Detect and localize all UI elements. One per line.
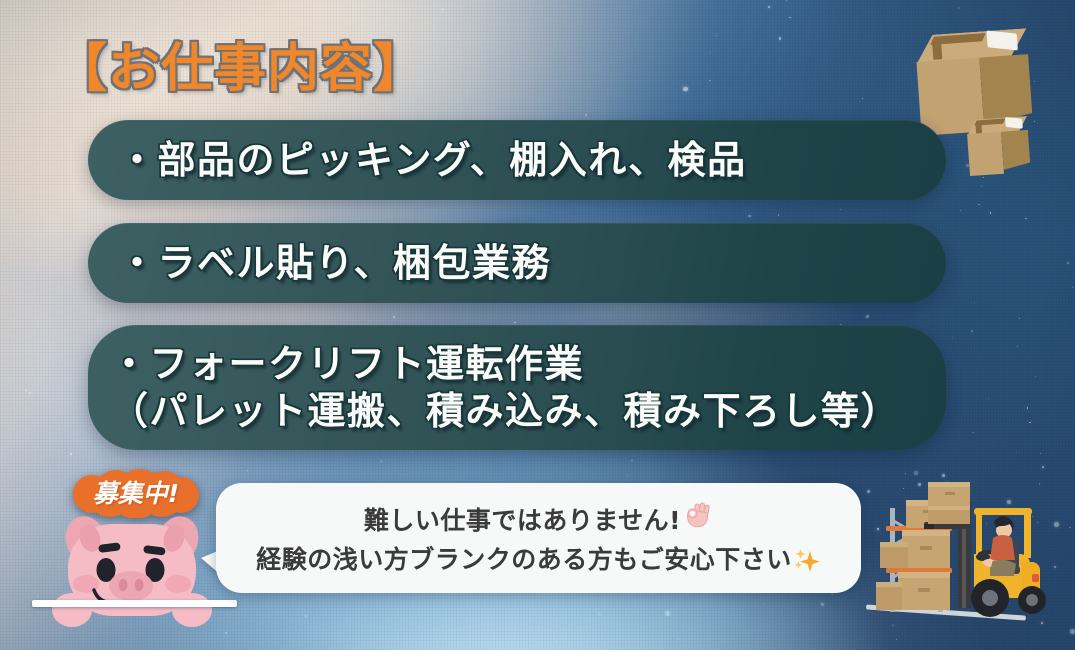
white-divider-line	[32, 600, 237, 607]
forklift-warehouse-illustration	[862, 462, 1075, 650]
duty-pill-3-line1: ・フォークリフト運転作業	[110, 342, 584, 386]
speech-bubble-line-2-row: 経験の浅い方ブランクのある方もご安心下さい	[256, 540, 821, 576]
speech-bubble-line-1: 難しい仕事ではありません!	[364, 501, 681, 537]
duty-pill-1: ・部品のピッキング、棚入れ、検品	[88, 120, 946, 200]
speech-bubble-line-1-row: 難しい仕事ではありません!	[364, 501, 713, 537]
speech-bubble: 難しい仕事ではありません! 経験の浅い方ブランクのあ	[216, 483, 861, 593]
duty-pill-2-text: ・ラベル貼り、梱包業務	[88, 242, 551, 285]
speech-bubble-line-2: 経験の浅い方ブランクのある方もご安心下さい	[256, 540, 792, 576]
forklift-icon	[971, 508, 1046, 617]
cardboard-box-small-icon	[966, 116, 1031, 176]
duty-pill-3-text: ・フォークリフト運転作業 （パレット運搬、積み込み、積み下ろし等）	[88, 343, 900, 432]
recruiting-badge: 募集中!	[72, 468, 200, 518]
poster-canvas: 【お仕事内容】 ・部品のピッキング、棚入れ、検品 ・ラベル貼り、梱包業務 ・フォ…	[0, 0, 1075, 650]
duty-pill-3: ・フォークリフト運転作業 （パレット運搬、積み込み、積み下ろし等）	[88, 325, 946, 450]
duty-pill-2: ・ラベル貼り、梱包業務	[88, 223, 946, 303]
ok-hand-emoji	[683, 501, 713, 531]
page-title: 【お仕事内容】	[55, 26, 426, 101]
duty-pill-1-text: ・部品のピッキング、棚入れ、検品	[88, 139, 747, 182]
recruiting-badge-label: 募集中!	[72, 468, 200, 518]
duty-pill-3-line2: （パレット運搬、積み込み、積み下ろし等）	[110, 390, 900, 433]
sparkles-emoji	[793, 547, 821, 575]
pig-mascot-icon	[50, 512, 215, 627]
